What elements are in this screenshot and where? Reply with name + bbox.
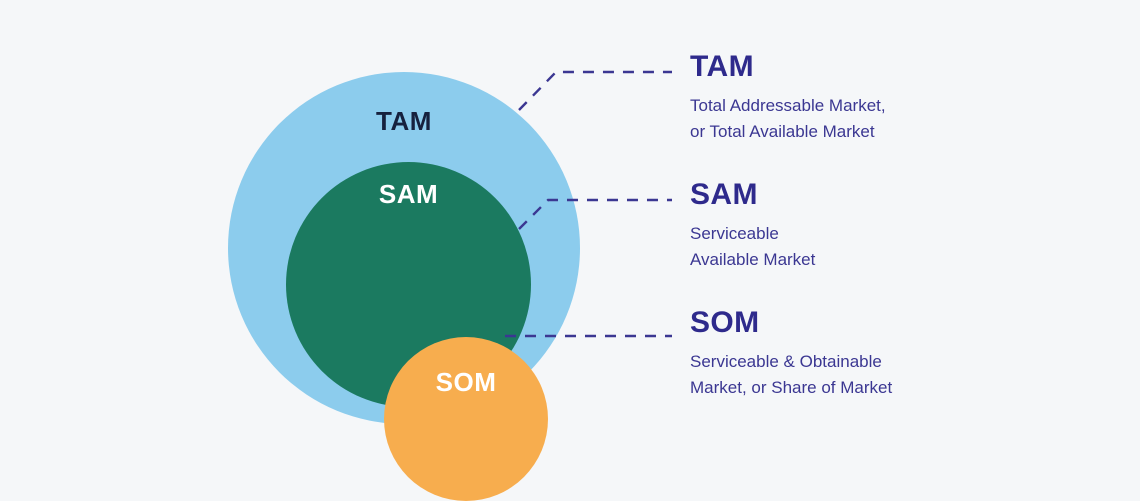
legend: TAM Total Addressable Market, or Total A… [690,0,1090,480]
legend-item-sam-title: SAM [690,178,1080,211]
legend-item-som[interactable]: SOM Serviceable & Obtainable Market, or … [690,306,1080,400]
som-circle-label: SOM [384,367,548,398]
sam-circle-label: SAM [286,179,531,210]
legend-item-sam-line1: Serviceable [690,221,1080,247]
tam-circle[interactable]: TAM SAM SOM [228,72,580,424]
legend-item-sam-line2: Available Market [690,247,1080,273]
nested-circles-group: TAM SAM SOM [228,72,580,424]
tam-sam-som-diagram: TAM SAM SOM TAM Total Addressable Market… [0,0,1140,480]
legend-item-tam-title: TAM [690,50,1080,83]
legend-item-som-line2: Market, or Share of Market [690,375,1080,401]
legend-item-sam-description: Serviceable Available Market [690,221,1080,272]
legend-item-tam-line2: or Total Available Market [690,119,1080,145]
legend-item-som-line1: Serviceable & Obtainable [690,349,1080,375]
tam-circle-label: TAM [228,106,580,137]
legend-item-tam-line1: Total Addressable Market, [690,93,1080,119]
legend-item-som-title: SOM [690,306,1080,339]
sam-circle[interactable]: SAM SOM [286,162,531,407]
legend-item-tam[interactable]: TAM Total Addressable Market, or Total A… [690,50,1080,144]
legend-item-sam[interactable]: SAM Serviceable Available Market [690,178,1080,272]
legend-item-som-description: Serviceable & Obtainable Market, or Shar… [690,349,1080,400]
som-circle[interactable]: SOM [384,337,548,501]
legend-item-tam-description: Total Addressable Market, or Total Avail… [690,93,1080,144]
